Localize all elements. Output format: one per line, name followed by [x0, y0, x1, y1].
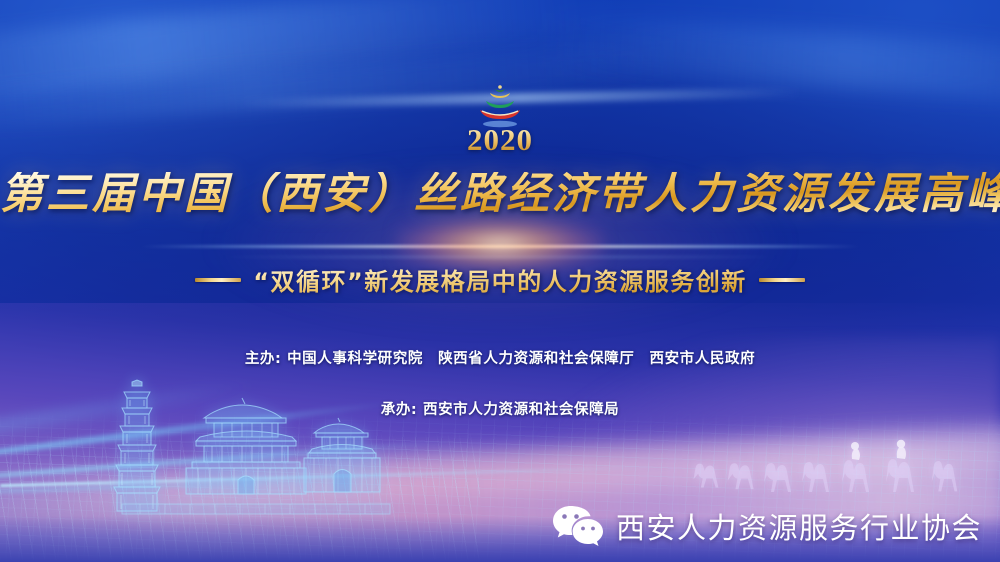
subtitle-dash-right — [759, 278, 805, 282]
page-subtitle: “双循环”新发展格局中的人力资源服务创新 — [253, 262, 747, 297]
wechat-account-badge[interactable]: 西安人力资源服务行业协会 — [552, 504, 982, 548]
wechat-account-name: 西安人力资源服务行业协会 — [616, 505, 982, 547]
undertaker-organizer-line: 承办: 西安市人力资源和社会保障局 — [0, 398, 1000, 419]
year-label: 2020 — [0, 122, 1000, 158]
summit-poster: 2020 第三届中国（西安）丝路经济带人力资源发展高峰会 “双循环”新发展格局中… — [0, 0, 1000, 562]
wechat-logo-icon — [552, 504, 604, 548]
poster-content: 2020 第三届中国（西安）丝路经济带人力资源发展高峰会 “双循环”新发展格局中… — [0, 0, 1000, 562]
host-organizers-line: 主办: 中国人事科学研究院 陕西省人力资源和社会保障厅 西安市人民政府 — [0, 347, 1000, 368]
page-title: 第三届中国（西安）丝路经济带人力资源发展高峰会 — [0, 172, 1000, 218]
subtitle-dash-left — [195, 278, 241, 282]
subtitle-row: “双循环”新发展格局中的人力资源服务创新 — [0, 262, 1000, 297]
organizers-block: 主办: 中国人事科学研究院 陕西省人力资源和社会保障厅 西安市人民政府 承办: … — [0, 347, 1000, 419]
